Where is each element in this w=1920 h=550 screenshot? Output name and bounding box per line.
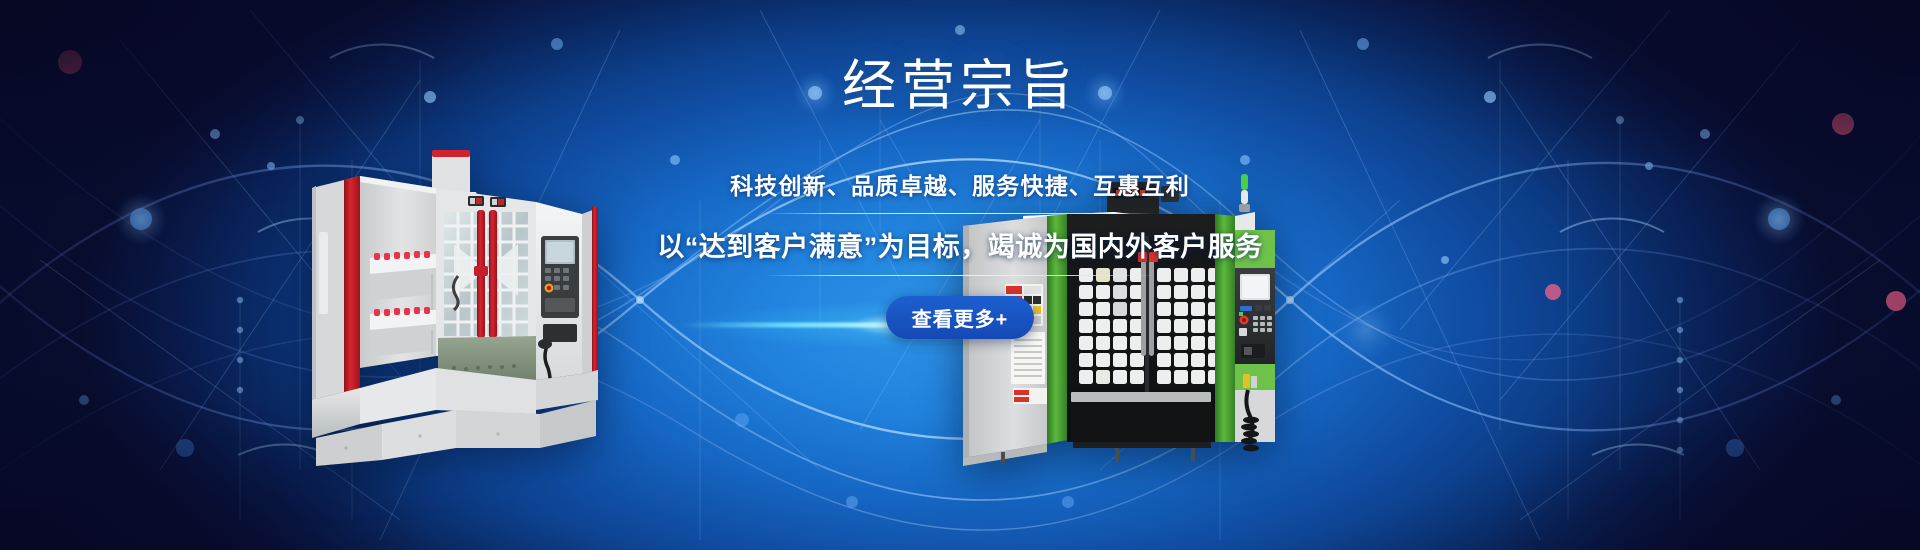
banner-subtitle: 科技创新、品质卓越、服务快捷、互惠互利: [730, 167, 1190, 201]
promo-banner: 经营宗旨 科技创新、品质卓越、服务快捷、互惠互利 以“达到客户满意”为目标，竭诚…: [0, 0, 1920, 550]
divider-top: [764, 213, 1156, 214]
divider-bottom: [764, 275, 1156, 276]
page-title: 经营宗旨: [842, 58, 1078, 115]
banner-text-block: 经营宗旨 科技创新、品质卓越、服务快捷、互惠互利 以“达到客户满意”为目标，竭诚…: [0, 22, 1920, 339]
banner-tagline: 以“达到客户满意”为目标，竭诚为国内外客户服务: [657, 225, 1263, 264]
view-more-button[interactable]: 查看更多+: [886, 296, 1035, 339]
